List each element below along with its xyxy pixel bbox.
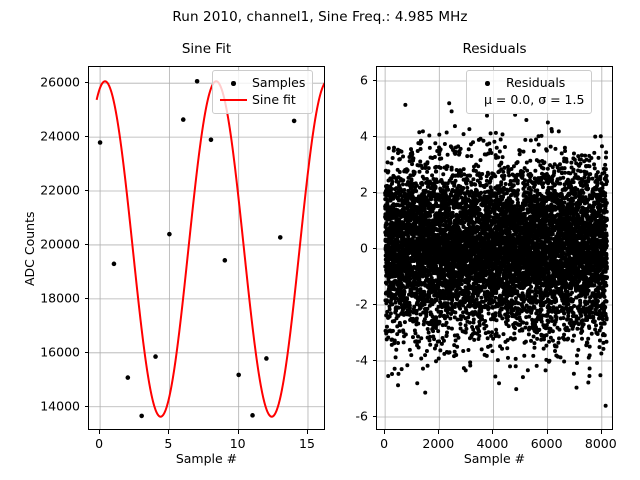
x-tick-label: 0 xyxy=(95,436,103,451)
y-tick-mark xyxy=(85,352,89,353)
y-tick-mark xyxy=(373,80,377,81)
y-tick-mark xyxy=(85,190,89,191)
residuals-x-axis-label: Sample # xyxy=(376,451,613,466)
y-tick-mark xyxy=(85,136,89,137)
y-tick-label: 24000 xyxy=(8,129,80,144)
y-tick-mark xyxy=(373,248,377,249)
y-tick-label: 22000 xyxy=(8,183,80,198)
y-tick-mark xyxy=(373,360,377,361)
legend-label-samples: Samples xyxy=(252,75,305,92)
y-tick-label: 14000 xyxy=(8,398,80,413)
x-tick-label: 5 xyxy=(164,436,172,451)
sine-fit-plot-area xyxy=(88,66,325,430)
y-tick-label: -4 xyxy=(296,353,368,368)
legend-label-residual-stats: μ = 0.0, σ = 1.5 xyxy=(474,92,584,109)
figure-canvas: Run 2010, channel1, Sine Freq.: 4.985 MH… xyxy=(0,0,640,480)
legend-label-residuals: Residuals xyxy=(506,75,565,92)
x-tick-mark xyxy=(492,430,493,434)
y-tick-label: 16000 xyxy=(8,344,80,359)
x-tick-label: 6000 xyxy=(531,436,563,451)
sine-fit-line-icon xyxy=(220,93,247,106)
y-tick-mark xyxy=(85,298,89,299)
sine-fit-legend: Samples Sine fit xyxy=(212,70,313,114)
figure-suptitle: Run 2010, channel1, Sine Freq.: 4.985 MH… xyxy=(0,9,640,25)
y-tick-mark xyxy=(373,304,377,305)
x-tick-mark xyxy=(307,430,308,434)
y-tick-mark xyxy=(85,406,89,407)
y-tick-label: 4 xyxy=(296,129,368,144)
x-tick-mark xyxy=(438,430,439,434)
legend-entry-samples: Samples xyxy=(220,75,305,92)
x-tick-mark xyxy=(99,430,100,434)
x-tick-mark xyxy=(384,430,385,434)
x-tick-mark xyxy=(601,430,602,434)
x-tick-mark xyxy=(547,430,548,434)
residuals-legend: Residuals μ = 0.0, σ = 1.5 xyxy=(466,70,592,114)
residuals-marker-icon xyxy=(474,77,501,90)
y-tick-label: 18000 xyxy=(8,290,80,305)
residuals-svg xyxy=(377,67,613,430)
legend-entry-residuals: Residuals xyxy=(474,75,584,92)
y-tick-mark xyxy=(85,82,89,83)
y-tick-label: -2 xyxy=(296,297,368,312)
samples-marker-icon xyxy=(220,77,247,90)
sine-x-axis-label: Sample # xyxy=(88,451,325,466)
y-tick-label: 26000 xyxy=(8,75,80,90)
x-tick-mark xyxy=(238,430,239,434)
y-tick-label: 0 xyxy=(296,241,368,256)
residuals-panel-title: Residuals xyxy=(376,41,613,57)
x-tick-label: 0 xyxy=(380,436,388,451)
y-tick-mark xyxy=(373,416,377,417)
y-tick-mark xyxy=(373,136,377,137)
y-tick-mark xyxy=(373,192,377,193)
y-tick-label: 2 xyxy=(296,185,368,200)
residuals-plot-area xyxy=(376,66,613,430)
y-tick-label: -6 xyxy=(296,409,368,424)
x-tick-mark xyxy=(168,430,169,434)
x-tick-label: 2000 xyxy=(422,436,454,451)
legend-entry-sine-fit: Sine fit xyxy=(220,92,305,109)
x-tick-label: 4000 xyxy=(477,436,509,451)
sine-y-axis-label: ADC Counts xyxy=(22,211,37,286)
y-tick-mark xyxy=(85,244,89,245)
x-tick-label: 8000 xyxy=(585,436,617,451)
y-tick-label: 20000 xyxy=(8,236,80,251)
sine-panel-title: Sine Fit xyxy=(88,41,325,57)
legend-label-sine-fit: Sine fit xyxy=(252,92,296,109)
sine-fit-svg xyxy=(89,67,325,430)
x-tick-label: 15 xyxy=(299,436,315,451)
x-tick-label: 10 xyxy=(230,436,246,451)
